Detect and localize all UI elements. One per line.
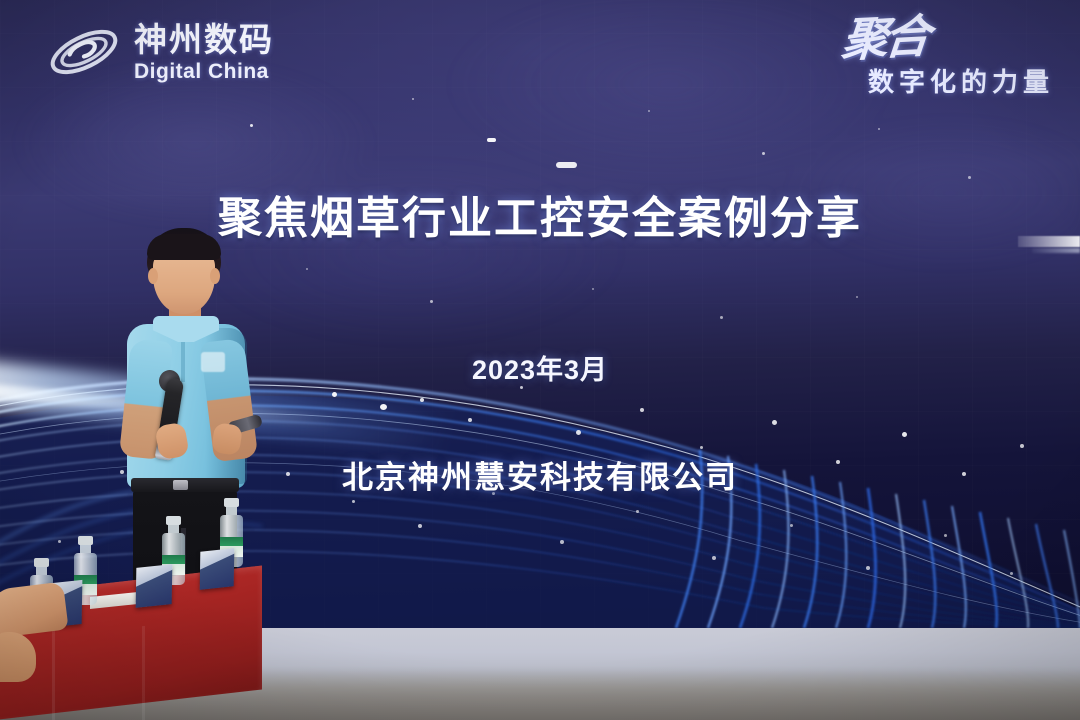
speaker-right-ear <box>210 268 220 284</box>
seated-judge-arm <box>0 582 69 639</box>
event-slogan: 聚合 数字化的力量 <box>842 18 1054 99</box>
speaker-chest-logo <box>201 352 225 372</box>
bottle-neck <box>168 525 179 533</box>
speaker-belt-buckle <box>173 480 188 490</box>
name-card <box>200 548 235 590</box>
bottle-cap <box>78 536 93 545</box>
bottle-cap <box>224 498 239 507</box>
bottle-neck <box>80 545 91 553</box>
slogan-brush-text: 聚合 <box>840 16 928 63</box>
bottle-neck <box>226 507 237 515</box>
bottle-neck <box>36 567 47 575</box>
speaker-shirt-placket <box>181 338 185 382</box>
bottle-cap <box>166 516 181 525</box>
slogan-sub-text: 数字化的力量 <box>842 62 1054 99</box>
brand-name-en: Digital China <box>134 61 274 82</box>
table-cloth-fold <box>142 626 145 720</box>
brand-logo: 神州数码 Digital China <box>46 18 274 86</box>
conference-stage-photo: 神州数码 Digital China 聚合 数字化的力量 聚焦烟草行业工控安全案… <box>0 0 1080 720</box>
speaker-left-ear <box>148 268 158 284</box>
name-card <box>136 564 173 608</box>
brand-name-cn: 神州数码 <box>134 23 274 56</box>
bottle-cap <box>34 558 49 567</box>
speaker-hair-fringe <box>147 234 221 260</box>
galaxy-swirl-icon <box>46 18 122 86</box>
screen-light-bar-secondary <box>1032 248 1080 253</box>
table-cloth-fold <box>52 616 55 720</box>
